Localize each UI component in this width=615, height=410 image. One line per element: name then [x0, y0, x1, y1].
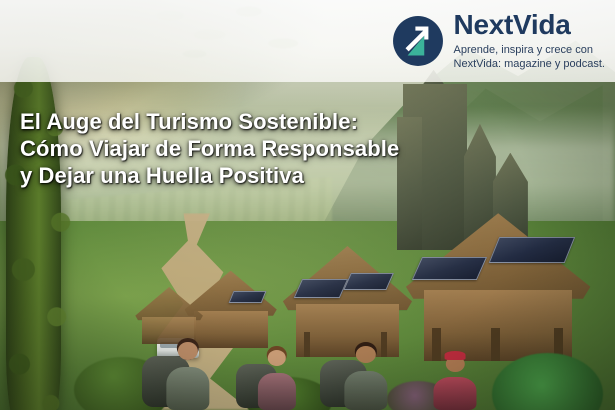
- solar-panel-icon: [228, 291, 266, 303]
- tagline-line-1: Aprende, inspira y crece con: [454, 44, 593, 56]
- article-title: El Auge del Turismo Sostenible: Cómo Via…: [20, 108, 490, 189]
- traveler-backpacker-1: [154, 340, 222, 410]
- traveler-backpacker-3: [332, 344, 400, 410]
- header-band: NextVida Aprende, inspira y crece con Ne…: [0, 0, 615, 82]
- nextvida-arrow-logo-icon[interactable]: [392, 15, 444, 67]
- hut-main: [406, 213, 591, 361]
- tagline-line-2: NextVida: magazine y podcast.: [454, 58, 605, 70]
- torso: [344, 371, 387, 410]
- article-title-block: El Auge del Turismo Sostenible: Cómo Via…: [20, 108, 490, 189]
- article-hero-banner: NextVida Aprende, inspira y crece con Ne…: [0, 0, 615, 410]
- torso: [434, 377, 477, 410]
- solar-panel-icon: [294, 279, 348, 298]
- solar-panel-icon: [489, 237, 575, 263]
- title-line-3: y Dejar una Huella Positiva: [20, 162, 490, 189]
- brand-lockup[interactable]: NextVida Aprende, inspira y crece con Ne…: [392, 11, 605, 71]
- brand-tagline: Aprende, inspira y crece con NextVida: m…: [454, 43, 605, 71]
- title-line-2: Cómo Viajar de Forma Responsable: [20, 135, 490, 162]
- solar-panel-icon: [412, 257, 487, 280]
- torso: [258, 373, 296, 410]
- title-line-1: El Auge del Turismo Sostenible:: [20, 108, 490, 135]
- head: [268, 350, 286, 366]
- thatched-roof: [135, 287, 203, 320]
- brand-name: NextVida: [454, 11, 605, 39]
- solar-panel-icon: [344, 273, 395, 290]
- torso: [166, 367, 209, 410]
- hut-left-small: [135, 287, 203, 344]
- red-headwrap: [445, 351, 466, 359]
- vine-foliage: [0, 41, 92, 410]
- traveler-backpacker-2: [246, 349, 308, 410]
- local-woman: [424, 353, 486, 410]
- head: [177, 342, 197, 360]
- stilt-post: [491, 328, 500, 360]
- hut-middle: [283, 246, 412, 357]
- head: [356, 346, 376, 363]
- brand-text-block: NextVida Aprende, inspira y crece con Ne…: [454, 11, 605, 71]
